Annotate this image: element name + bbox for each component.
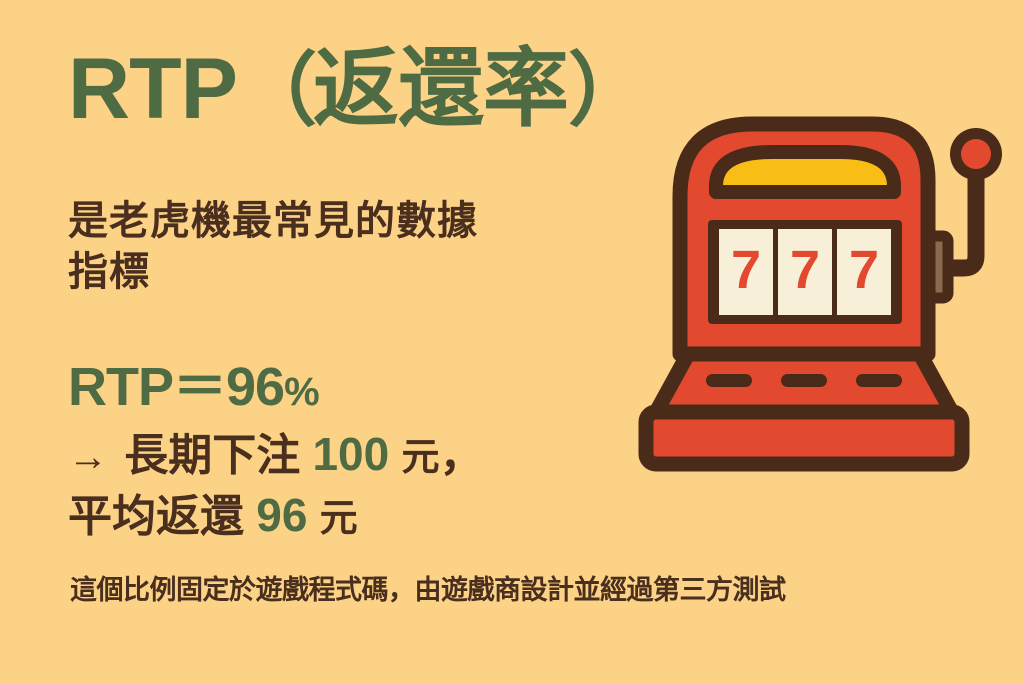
reel-3-symbol: 7 (849, 240, 879, 300)
text-column: RTP（返還率） 是老虎機最常見的數據指標 RTP＝96% → 長期下注 100… (0, 0, 660, 683)
subtitle-line-1: 是老虎機最常見的數據 (68, 199, 478, 243)
arrow-icon: → (68, 435, 112, 479)
deck-button-2[interactable] (781, 374, 827, 387)
reel-2: 7 (778, 229, 832, 315)
example-bet-text: 長期下注 (124, 431, 300, 480)
title-chinese: 返還率 (313, 41, 568, 137)
footnote-caption: 這個比例固定於遊戲程式碼，由遊戲商設計並經過第三方測試 (70, 568, 786, 607)
example-return-amount: 96 (256, 489, 307, 541)
example-bet-amount: 100 (312, 428, 389, 480)
formula-line: RTP＝96% (68, 342, 319, 421)
deck-button-3[interactable] (856, 374, 902, 387)
slot-machine-illustration: 7 7 7 (624, 96, 1024, 476)
example-line: → 長期下注 100 元，平均返還 96 元 (68, 424, 648, 546)
example-return-unit: 元 (320, 498, 358, 540)
reel-1-symbol: 7 (731, 240, 761, 300)
title-paren-open: （ (237, 46, 313, 135)
deck-button-1[interactable] (706, 374, 752, 387)
top-banner (716, 152, 894, 192)
infographic-canvas: RTP（返還率） 是老虎機最常見的數據指標 RTP＝96% → 長期下注 100… (0, 0, 1024, 683)
page-title: RTP（返還率） (68, 46, 644, 132)
example-bet-unit: 元 (401, 437, 439, 479)
formula-percent: % (284, 370, 319, 414)
subtitle-line-2: 指標 (68, 250, 150, 294)
example-return-text: 平均返還 (68, 492, 244, 541)
title-acronym: RTP (68, 41, 237, 137)
example-comma: ， (439, 431, 483, 480)
subtitle: 是老虎機最常見的數據指標 (68, 196, 628, 298)
reel-3: 7 (837, 229, 891, 315)
formula-value: 96 (226, 357, 284, 417)
lever-knob-icon (961, 139, 991, 169)
formula-label: RTP (68, 357, 173, 417)
machine-base (646, 412, 962, 464)
reel-2-symbol: 7 (790, 240, 820, 300)
formula-equals: ＝ (173, 357, 226, 417)
reel-1: 7 (719, 229, 773, 315)
